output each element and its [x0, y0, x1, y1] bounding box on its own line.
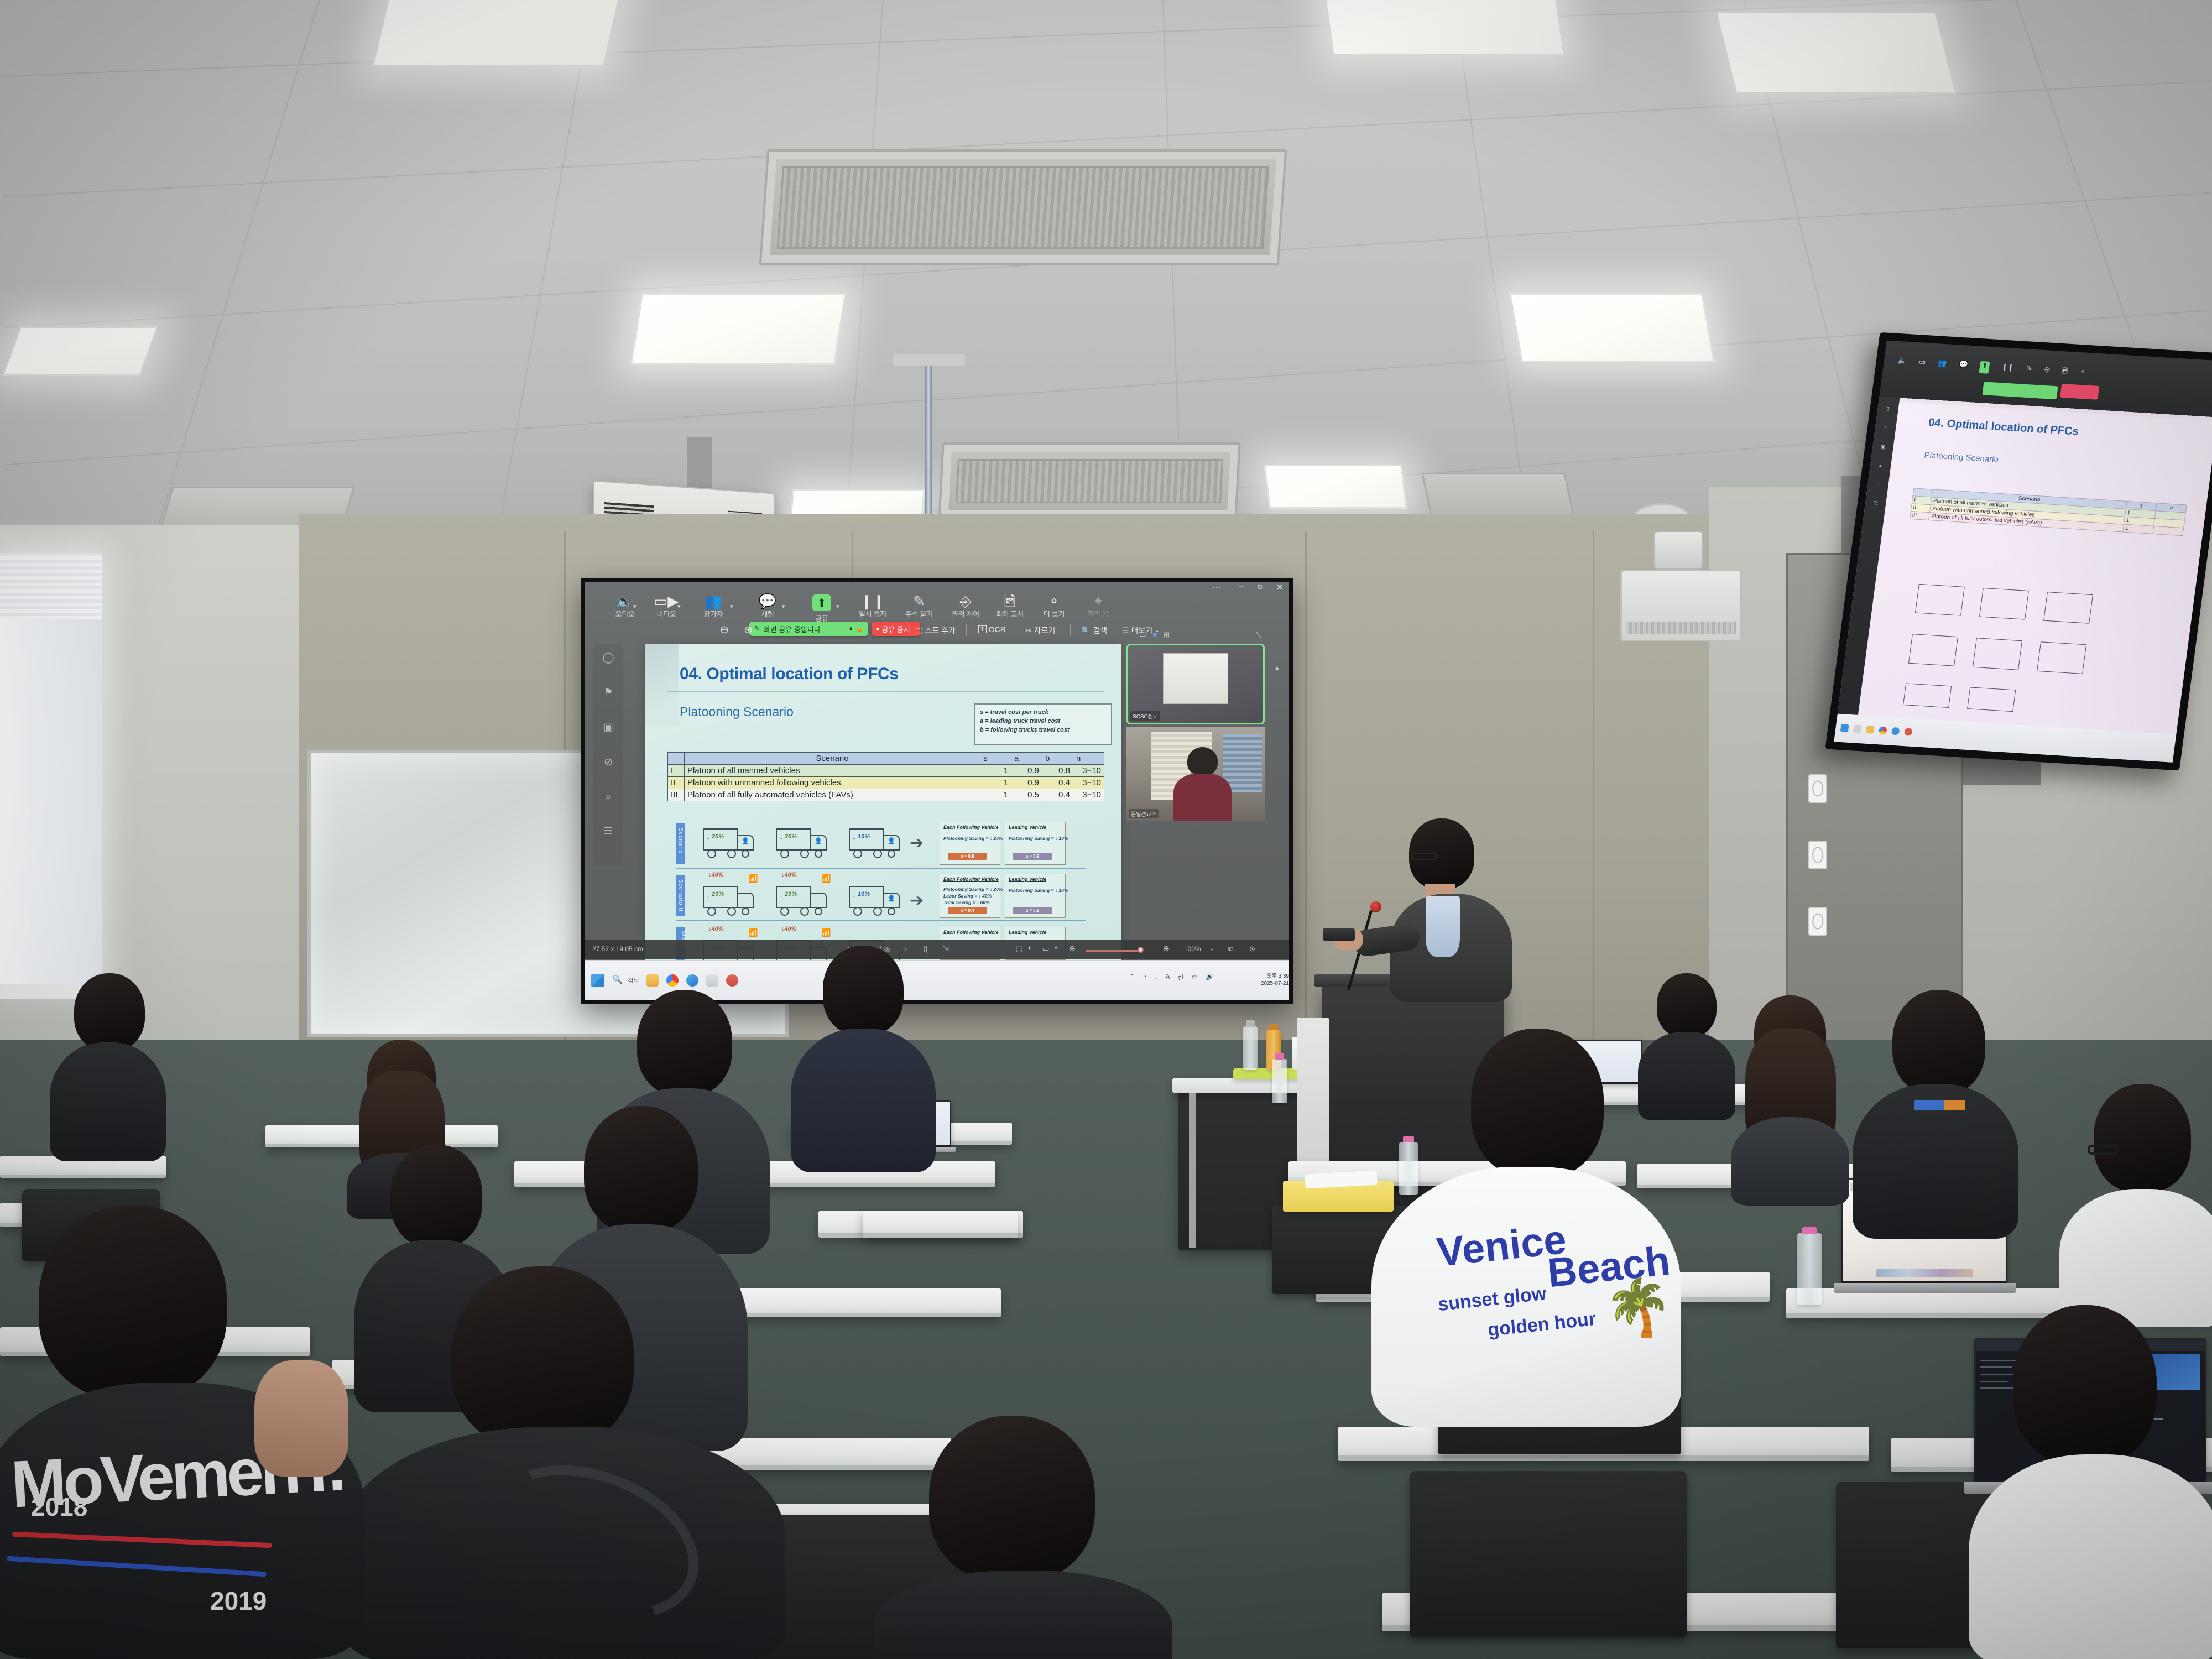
edge-icon[interactable] — [686, 974, 698, 987]
truck-pct: 20% — [712, 833, 724, 840]
table-row: II Platoon with unmanned following vehic… — [668, 777, 1104, 789]
participant-name: SCSC센터 — [1130, 711, 1160, 721]
labor-saving-label: ↓40% — [781, 926, 797, 932]
cell-b: 0.4 — [1042, 789, 1073, 801]
slide-decor-corner — [645, 644, 679, 727]
remote-control-icon: ⎆ — [942, 594, 989, 608]
ceiling-light — [630, 293, 847, 365]
zoom-tool-pause[interactable]: ❙❙ 일시 중지 — [849, 594, 896, 619]
student-head — [929, 1416, 1095, 1582]
comments-icon: ▣ — [1872, 444, 1893, 451]
lock-icon[interactable]: 🔒 — [855, 625, 863, 633]
scenario-divider — [676, 920, 1086, 921]
window-blind — [0, 553, 102, 619]
th-scenario: Scenario — [685, 753, 980, 765]
driver-icon: 👤 — [888, 895, 895, 902]
search-icon: 🔍 — [1081, 626, 1091, 635]
camera-ceiling-plate — [893, 354, 965, 366]
tray-volume-icon[interactable]: 🔊 — [1206, 973, 1214, 982]
water-bottle — [1272, 1059, 1287, 1103]
ceiling-light — [2, 326, 159, 376]
presenter-shirt — [1426, 896, 1460, 957]
projection-screen: ⋯ – ⧉ ✕ ▲ 🔈 오디오 ▾ ▭▶ 비디오 ▾ 👥 참가자 ▾ 💬 — [581, 578, 1293, 1004]
system-tray[interactable]: ⌃ ◔ ↓ A 한 ▭ 🔊 — [1129, 973, 1214, 982]
truck-pct: 10% — [858, 891, 870, 898]
start-button — [1840, 724, 1849, 733]
add-note-label: 스트 추가 — [925, 625, 955, 636]
result-header: Each Following Vehicle — [943, 877, 999, 882]
window-close-button[interactable]: ✕ — [1273, 582, 1286, 592]
presenter — [1383, 818, 1521, 1001]
search-icon — [1853, 725, 1862, 733]
view-options-button[interactable]: ⊙ — [1249, 945, 1255, 953]
table-row: I Platoon of all manned vehicles 1 0.9 0… — [668, 765, 1104, 777]
truck-icon: ↓ 20% — [776, 886, 829, 918]
result-box-following: Each Following Vehicle Platooning Saving… — [940, 822, 1000, 865]
light-switch[interactable] — [1808, 841, 1827, 869]
search-label: 검색 — [628, 976, 639, 985]
chrome-icon[interactable] — [666, 974, 679, 987]
wifi-icon: 📶 — [821, 928, 831, 937]
student-head — [2013, 1305, 2157, 1465]
student — [1980, 1305, 2212, 1659]
student-foreground — [343, 1288, 785, 1659]
crop-label: 자르기 — [1034, 625, 1056, 636]
student-head — [1892, 990, 1985, 1095]
ceiling-light — [1264, 465, 1407, 509]
labor-saving-label: ↓40% — [708, 872, 724, 878]
water-bottle — [1243, 1026, 1258, 1070]
truck-icon: ↓ 20% — [703, 886, 756, 918]
zoom-in-button[interactable]: ⊕ — [1163, 944, 1170, 953]
student-torso — [791, 1029, 936, 1172]
window-restore-button[interactable]: ⧉ — [1254, 583, 1267, 592]
th-n: n — [1073, 753, 1104, 765]
zoom-tool-remote-control[interactable]: ⎆ 원격 제어 — [942, 594, 989, 619]
slide-title: 04. Optimal location of PFCs — [680, 665, 899, 684]
toolbar-divider — [966, 624, 967, 636]
side-table-leg — [1189, 1093, 1196, 1248]
show-meeting-icon: 🖻 — [2061, 366, 2068, 378]
folder-icon — [1866, 726, 1875, 734]
grid-tile-icon[interactable]: ⊞ — [1164, 630, 1170, 639]
camera-suspension-rod — [925, 359, 932, 536]
light-switch[interactable] — [1808, 907, 1827, 936]
student-torso — [874, 1571, 1172, 1659]
zoom-tool-more[interactable]: ⚬ 더 보기 — [1030, 594, 1078, 619]
palm-tree-icon: 🌴 — [1604, 1280, 1673, 1335]
ceiling-light — [1715, 11, 1957, 94]
zoom-tool-show-meeting[interactable]: 🖻 회의 표시 — [986, 594, 1034, 619]
cell-n: 3−10 — [1073, 789, 1104, 801]
student-hand — [254, 1360, 348, 1477]
arrow-right-icon: ➔ — [910, 893, 924, 909]
pause-icon[interactable]: ⏸ — [849, 625, 853, 633]
student-torso — [1731, 1117, 1849, 1206]
fit-page-button[interactable]: ⇲ — [943, 945, 949, 953]
cell-b: 0.8 — [1042, 765, 1073, 777]
tv-table-wrap: Scenario s a I Platoon of all manned veh… — [1910, 488, 2187, 536]
single-tile-icon[interactable]: ▭ — [1139, 630, 1146, 639]
student-torso — [1969, 1454, 2212, 1659]
stop-share-label: 공유 중지 — [881, 624, 910, 634]
ceiling-light — [1509, 293, 1715, 362]
th-a: a — [1011, 753, 1042, 765]
presenter-clicker[interactable] — [1323, 928, 1355, 941]
collapse-chevron-icon[interactable]: ▲ — [1274, 664, 1281, 672]
search-icon[interactable]: 🔍 — [612, 974, 624, 987]
ceiling-light — [1322, 0, 1565, 55]
more-icon: ⚬ — [2079, 367, 2086, 379]
student-head — [1657, 973, 1717, 1037]
tool-label: 오디오 — [601, 608, 649, 619]
zoom-slider-track[interactable] — [1086, 950, 1142, 952]
arrow-right-icon: ➔ — [910, 835, 924, 852]
scenario-divider — [676, 868, 1086, 869]
strip-tile-icon[interactable]: ≡ — [1153, 630, 1157, 639]
wifi-icon: 📶 — [748, 874, 758, 883]
result-line: Platooning Saving = ↓ 20% — [943, 886, 1003, 892]
wall-mounted-tv-wrap: 🔈 ▭ 👥 💬 ⬆ ❙❙ ✎ ⎆ 🖻 ⚬ ▯ — [1821, 332, 2212, 804]
desk — [863, 1211, 1018, 1238]
legend-line: b = following trucks travel cost — [980, 726, 1106, 735]
result-line: Labor Saving = ↓ 40% — [943, 893, 992, 899]
water-bottle — [1797, 1233, 1822, 1305]
chat-icon: 💬 — [1958, 359, 1969, 372]
result-header: Each Following Vehicle — [943, 825, 999, 830]
find-icon: ○ — [1867, 482, 1888, 488]
ocr-button[interactable]: T OCR — [978, 625, 1006, 634]
student-head — [39, 1206, 227, 1399]
stop-square-icon: ■ — [876, 626, 879, 632]
show-meeting-icon: 🖻 — [986, 594, 1034, 608]
tv-stop-banner — [2060, 384, 2099, 399]
tool-label: 회의 표시 — [986, 608, 1034, 619]
zoom-tool-annotate[interactable]: ✎ 주석 달기 — [895, 594, 943, 619]
cell-s: 1 — [980, 789, 1011, 801]
student — [2063, 1084, 2212, 1322]
th-b: b — [1042, 753, 1073, 765]
layers-icon: ☈ — [1865, 500, 1886, 508]
tray-chevron-icon[interactable]: ⌃ — [1129, 973, 1135, 982]
tv-truck-row-1 — [1909, 580, 2182, 637]
tv-screen: 🔈 ▭ 👥 💬 ⬆ ❙❙ ✎ ⎆ 🖻 ⚬ ▯ — [1834, 341, 2212, 763]
search-button[interactable]: 🔍 검색 — [1081, 625, 1107, 636]
note-icon: ⬚ — [915, 626, 922, 635]
tool-label: 주석 달기 — [895, 608, 943, 619]
chevron-down-icon[interactable]: ▾ — [677, 603, 681, 610]
ocr-icon: T — [978, 625, 987, 633]
cell-s: 1 — [980, 765, 1011, 777]
window-more-button[interactable]: ⋯ — [1209, 582, 1224, 592]
result-box-leading: Leading Vehicle Platooning Saving = ↓ 10… — [1005, 822, 1066, 865]
microphone-icon: 🔈 — [601, 594, 649, 608]
table-header-row: Scenario s a b n — [668, 753, 1104, 765]
chevron-down-icon[interactable]: ▾ — [782, 603, 785, 610]
cell-s: 1 — [2123, 524, 2154, 534]
add-note-button[interactable]: ⬚ 스트 추가 — [915, 625, 956, 636]
camera-icon: ▭▶ — [643, 594, 690, 608]
ac-ceiling-vent — [759, 149, 1287, 265]
labor-saving-label: ↓40% — [708, 926, 724, 932]
scenario-tag: Scenario II — [676, 875, 685, 916]
tv-truck-row-2 — [1902, 629, 2175, 686]
scenario-tag: Scenario I — [676, 823, 685, 864]
cell-n: 3−10 — [1073, 777, 1104, 789]
hamburger-icon: ☰ — [1122, 626, 1129, 635]
pdf-zoom-out-button[interactable]: ⊖ — [720, 624, 729, 637]
wifi-icon: 📶 — [748, 928, 758, 937]
ocr-label: OCR — [989, 625, 1006, 634]
bottle-cap — [1802, 1227, 1817, 1234]
truck-pct: 20% — [785, 833, 797, 840]
bookmarks-icon[interactable]: ⚑ — [593, 686, 623, 699]
cell-b: 0.4 — [1042, 777, 1073, 789]
student-head — [637, 990, 732, 1096]
stop-share-button[interactable]: ■ 공유 중지 — [872, 622, 920, 636]
cell-scenario: Platoon of all manned vehicles — [685, 765, 980, 777]
zoom-meeting-window: ⋯ – ⧉ ✕ ▲ 🔈 오디오 ▾ ▭▶ 비디오 ▾ 👥 참가자 ▾ 💬 — [585, 582, 1289, 1000]
cell-id: II — [668, 777, 685, 789]
student-venice-beach: Venice Beach sunset glow golden hour 🌴 — [1371, 1029, 1681, 1427]
result-chip: b = 0.8 — [948, 853, 987, 860]
zoom-in-icon: ⊕ — [744, 624, 753, 637]
result-chip: b = 0.4 — [948, 907, 987, 914]
chair[interactable] — [1410, 1471, 1687, 1637]
camera-icon: ▭ — [1918, 357, 1926, 370]
presenter-silhouette-body — [1173, 774, 1232, 821]
page-size-label: 27.52 x 19.05 cm — [592, 945, 643, 953]
app-icon[interactable] — [706, 974, 718, 987]
share-icon: ⬆ — [1979, 361, 1990, 374]
result-chip: a = 0.9 — [1013, 853, 1052, 860]
zoom-tool-video[interactable]: ▭▶ 비디오 — [643, 594, 690, 619]
chevron-down-icon[interactable]: ▾ — [836, 603, 839, 610]
presenter-silhouette-head — [1187, 747, 1218, 775]
wifi-icon: 📶 — [821, 874, 831, 883]
student-head — [451, 1266, 634, 1449]
truck-pct: 20% — [712, 891, 724, 898]
cell-a: 0.9 — [1011, 765, 1042, 777]
window-left — [0, 553, 102, 984]
tray-battery-icon[interactable]: ▭ — [1192, 973, 1198, 982]
shirt-year-right: 2019 — [210, 1586, 267, 1616]
tool-label: 일시 중지 — [849, 608, 896, 619]
video-tile-presenter[interactable]: 은일경교수 — [1126, 727, 1265, 821]
scenario-row: Scenario II ↓ 20% ↓40% 📶 ↓ 20% — [667, 872, 1104, 919]
result-header: Leading Vehicle — [1009, 825, 1046, 830]
student-torso — [50, 1042, 166, 1161]
student-head — [584, 1106, 698, 1233]
microphone-head — [1370, 901, 1381, 912]
truck-icon: ↓ 20% 👤 — [703, 828, 756, 860]
edge-icon — [1891, 727, 1900, 735]
zoom-video-panel: – ▭ ≡ ⊞ ⤡ SCSC센터 은일경교수 — [1126, 644, 1265, 826]
result-line: Platooning Saving = ↓ 20% — [943, 836, 1003, 841]
laptop-base — [1834, 1283, 2016, 1293]
tool-label: 원격 제어 — [942, 608, 989, 619]
chevron-down-icon[interactable]: ▾ — [1055, 945, 1057, 951]
student — [863, 1416, 1172, 1659]
zoom-slider-knob[interactable] — [1138, 947, 1144, 953]
share-status-banner[interactable]: ✎ 화면 공유 중입니다 ⏸ 🔒 — [749, 622, 868, 636]
student-head — [823, 946, 904, 1035]
pages-icon[interactable]: ◯ — [593, 651, 623, 664]
chevron-down-icon[interactable]: ▾ — [730, 603, 733, 610]
result-header: Leading Vehicle — [1009, 930, 1046, 935]
result-chip: a = 0.9 — [1013, 907, 1052, 914]
truck-pct: 20% — [785, 891, 797, 898]
student — [1853, 990, 2018, 1228]
slide-divider — [667, 691, 1104, 692]
cell-id: I — [668, 765, 685, 777]
wall-mounted-tv: 🔈 ▭ 👥 💬 ⬆ ❙❙ ✎ ⎆ 🖻 ⚬ ▯ — [1825, 332, 2212, 771]
scenario-table-wrap: Scenario s a b n I Platoon of all manned… — [667, 752, 1104, 801]
zoom-out-icon: ⊖ — [720, 624, 729, 637]
wall-ac-unit — [1620, 570, 1742, 641]
video-tile-active[interactable]: SCSC센터 — [1126, 644, 1265, 724]
cell-a: 0.5 — [1011, 789, 1042, 801]
zoom-level-label[interactable]: 100% — [1184, 945, 1201, 953]
toolbar-divider — [1070, 624, 1071, 636]
cell-id: III — [668, 789, 685, 801]
tile-layout-controls[interactable]: – ▭ ≡ ⊞ — [1129, 630, 1228, 639]
tray-ime-korean-icon[interactable]: 한 — [1178, 973, 1184, 982]
ac-ceiling-vent — [938, 442, 1240, 520]
tv-share-banner — [1982, 382, 2058, 400]
layers-icon[interactable]: ☰ — [593, 825, 623, 838]
cell-a: 0.9 — [1011, 777, 1042, 789]
pause-icon: ❙❙ — [2001, 362, 2015, 375]
clock[interactable]: 오후 3:39 2025-07-21 — [1261, 973, 1289, 987]
zoom-tool-share-active[interactable]: ⬆ — [812, 594, 831, 611]
start-button[interactable] — [591, 974, 604, 987]
clock-time: 오후 3:39 — [1261, 973, 1289, 980]
comments-icon[interactable]: ▣ — [593, 721, 623, 734]
student-foreground-left: MoVemenT. 2018 2019 — [0, 1206, 365, 1659]
student-head — [74, 973, 145, 1051]
tv-toolbar-icons: 🔈 ▭ 👥 💬 ⬆ ❙❙ ✎ ⎆ 🖻 ⚬ — [1897, 356, 2086, 379]
pages-icon: ▯ — [1877, 405, 1898, 413]
find-icon[interactable]: ⌕ — [593, 791, 623, 803]
table-row: III Platoon of all fully automated vehic… — [668, 789, 1104, 801]
pause-icon: ❙❙ — [849, 594, 896, 608]
scenario-table: Scenario s a b n I Platoon of all manned… — [667, 752, 1104, 801]
tv-slide-title: 04. Optimal location of PFCs — [1928, 416, 2079, 438]
fullscreen-button[interactable]: ⧉ — [1228, 945, 1233, 953]
cell-id: III — [1910, 511, 1929, 520]
attachments-icon: ● — [1870, 463, 1891, 469]
pencil-icon: ✎ — [895, 594, 943, 608]
cell-n: 3−10 — [1073, 765, 1104, 777]
bookmarks-icon: ☞ — [1875, 425, 1896, 432]
folder-icon[interactable] — [646, 974, 659, 987]
result-box-following: Each Following Vehicle Platooning Saving… — [940, 874, 1000, 918]
participants-icon: 👥 — [1937, 358, 1947, 371]
crop-icon: ✂ — [1025, 626, 1032, 635]
tv-slide-subtitle: Platooning Scenario — [1923, 451, 1999, 465]
bottle-cap — [1275, 1053, 1285, 1060]
chevron-down-icon[interactable]: ▾ — [633, 603, 637, 610]
participant-name: 은일경교수 — [1129, 809, 1159, 818]
chevron-down-icon[interactable]: ⌄ — [1209, 946, 1214, 952]
th-id — [668, 753, 685, 765]
wall-speaker — [1653, 531, 1703, 570]
result-header: Leading Vehicle — [1009, 877, 1046, 882]
zoom-tool-captions[interactable]: ✦ 자막 용 — [1074, 594, 1122, 619]
shared-screen-preview — [1163, 653, 1228, 704]
pencil-icon: ✎ — [754, 624, 760, 633]
app-icon — [1904, 728, 1913, 737]
result-box-leading: Leading Vehicle Platooning Saving = ↓ 10… — [1005, 874, 1066, 918]
tool-label: 자막 용 — [1074, 608, 1122, 619]
result-line: Total Saving = ↓ 60% — [943, 900, 990, 905]
ellipsis-circle-icon: ⚬ — [1030, 594, 1078, 608]
student — [50, 973, 166, 1156]
tray-network-icon[interactable]: ◔ — [1142, 973, 1146, 982]
microphone-icon: 🔈 — [1897, 356, 1907, 368]
legend-line: a = leading truck travel cost — [980, 717, 1106, 726]
app-icon-2[interactable] — [726, 974, 738, 987]
ceiling-light — [372, 0, 624, 66]
truck-icon: ↓ 10% 👤 — [849, 828, 902, 860]
chevron-down-icon[interactable]: ▾ — [1028, 945, 1031, 951]
captions-icon: ✦ — [1074, 594, 1122, 608]
window-minimize-button[interactable]: – — [1235, 582, 1248, 591]
student — [791, 946, 935, 1167]
expand-icon[interactable]: ⤡ — [1256, 630, 1261, 639]
driver-icon: 👤 — [888, 837, 895, 844]
student-head — [2094, 1084, 2191, 1192]
result-header: Each Following Vehicle — [943, 930, 999, 935]
search-label: 검색 — [1093, 625, 1107, 636]
clock-date: 2025-07-21 — [1261, 980, 1289, 988]
result-line: Platooning Saving = ↓ 10% — [1009, 888, 1068, 893]
pencil-icon: ✎ — [2025, 364, 2033, 376]
pdf-zoom-in-button[interactable]: ⊕ — [744, 624, 753, 637]
classroom-scene: ⋯ – ⧉ ✕ ▲ 🔈 오디오 ▾ ▭▶ 비디오 ▾ 👥 참가자 ▾ 💬 — [0, 0, 2212, 1659]
th-s: s — [980, 753, 1011, 765]
minimize-tiles-icon[interactable]: – — [1129, 630, 1133, 639]
attachments-icon[interactable]: ⊘ — [593, 756, 623, 769]
driver-icon: 👤 — [815, 837, 822, 844]
presenter-glasses — [1411, 853, 1437, 860]
chrome-icon — [1879, 727, 1887, 735]
crop-button[interactable]: ✂ 자르기 — [1025, 625, 1055, 636]
shape-tool-button[interactable]: ▭ — [1042, 945, 1049, 953]
eyeglasses — [2088, 1145, 2118, 1155]
presentation-slide: 04. Optimal location of PFCs Platooning … — [645, 644, 1121, 964]
truck-icon: ↓ 20% 👤 — [776, 828, 829, 860]
zoom-tool-audio[interactable]: 🔈 오디오 — [601, 594, 649, 619]
labor-saving-label: ↓40% — [781, 872, 797, 878]
slide-subtitle: Platooning Scenario — [680, 705, 794, 719]
student-head — [390, 1145, 482, 1248]
tool-label: 비디오 — [643, 608, 690, 619]
student-head — [1471, 1029, 1604, 1178]
tray-download-icon[interactable]: ↓ — [1155, 973, 1158, 982]
pdf-left-rail: ◯ ⚑ ▣ ⊘ ⌕ ☰ — [593, 644, 623, 865]
truck-pct: 10% — [858, 833, 870, 840]
select-tool-button[interactable]: ⬚ — [1016, 945, 1022, 953]
shirt-year-left: 2018 — [31, 1492, 87, 1522]
cell-s: 1 — [980, 777, 1011, 789]
result-line: Platooning Saving = ↓ 10% — [1009, 836, 1068, 841]
cell-scenario: Platoon of all fully automated vehicles … — [685, 789, 980, 801]
tray-ime-latin-icon[interactable]: A — [1166, 973, 1170, 982]
student — [1725, 995, 1853, 1178]
zoom-out-button[interactable]: ⊖ — [1069, 944, 1076, 953]
